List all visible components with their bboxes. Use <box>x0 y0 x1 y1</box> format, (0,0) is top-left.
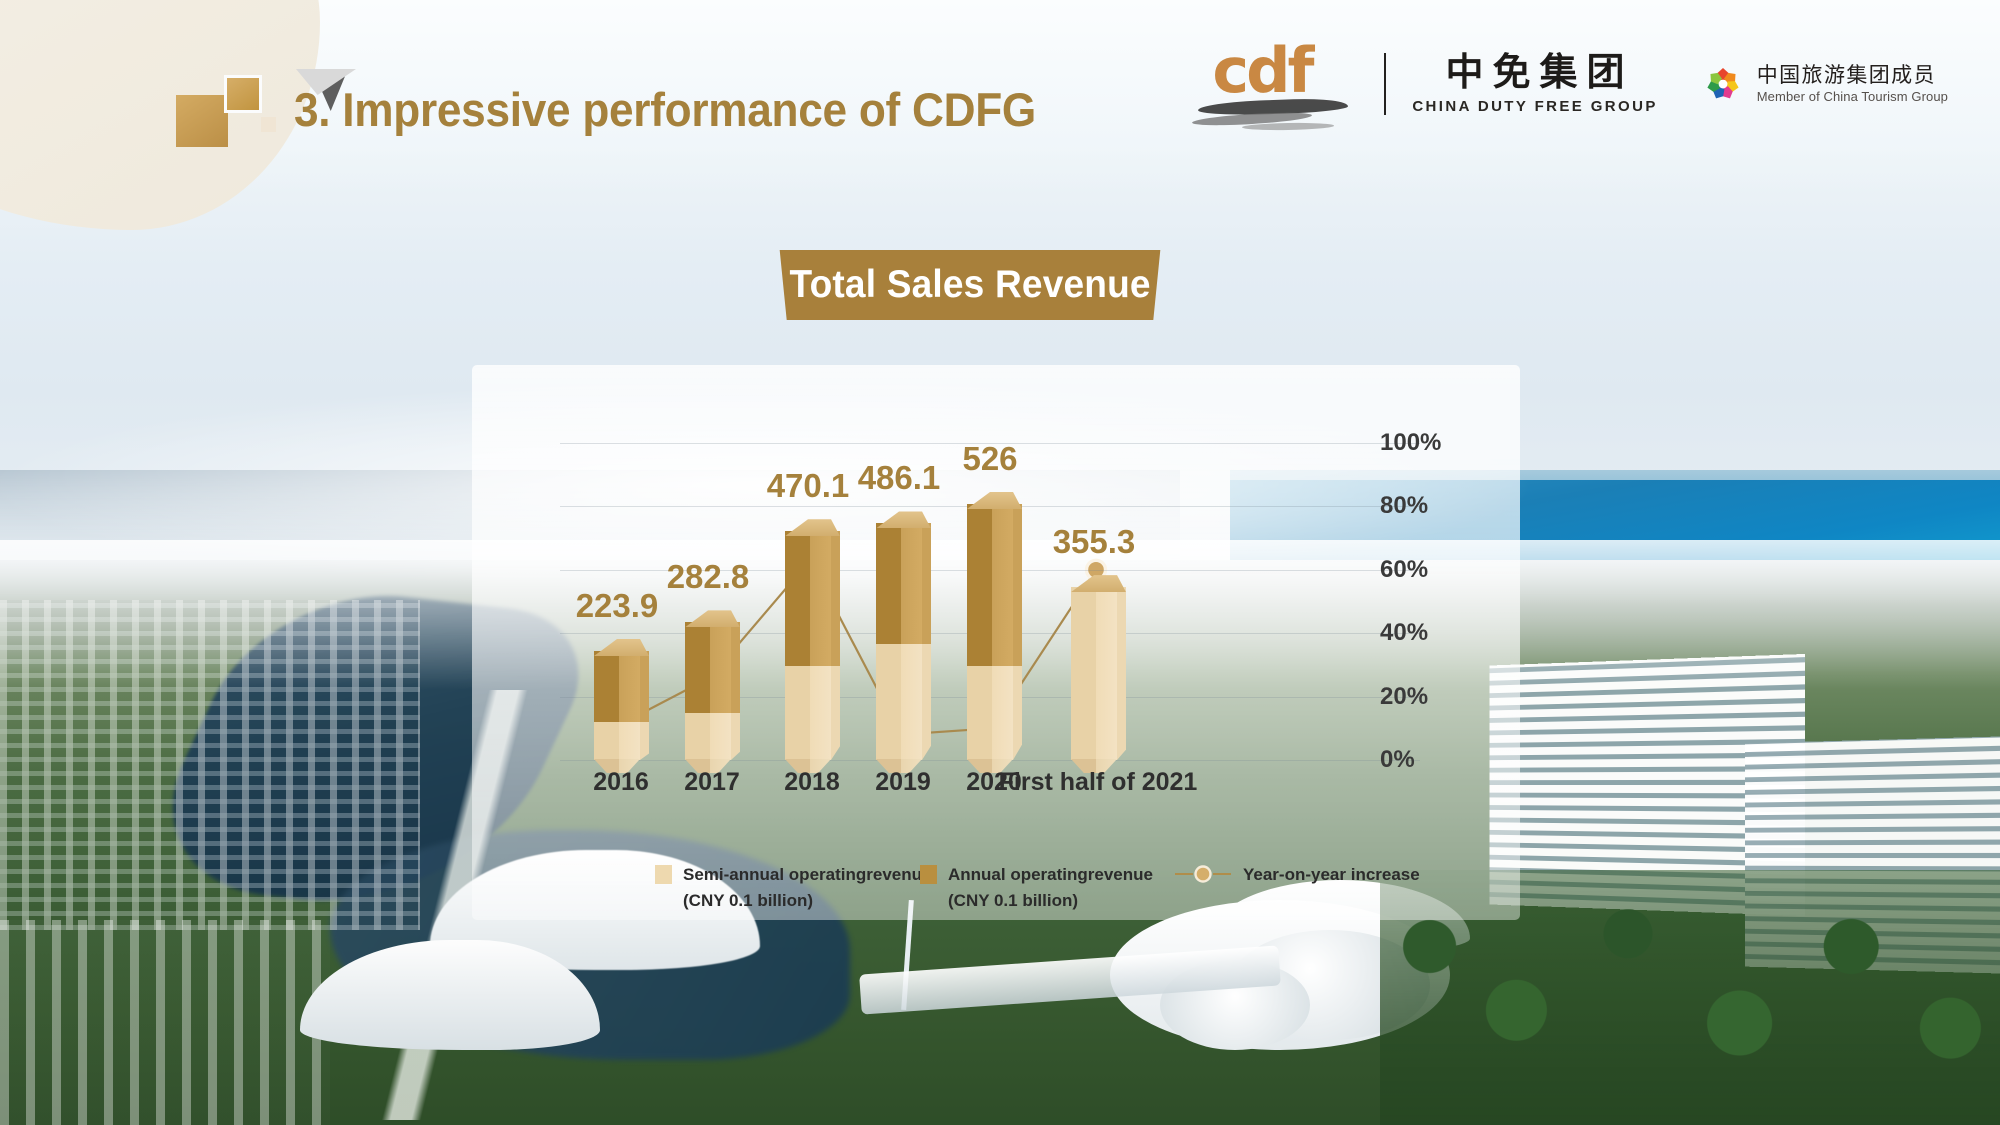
bar-top-cap <box>676 610 740 627</box>
ribbon-body: Total Sales Revenue <box>775 250 1165 320</box>
bar-side-face <box>922 523 931 760</box>
bar-side-face <box>640 651 649 760</box>
bar-segment-annual <box>785 531 831 666</box>
slide-root: 3. Impressive performance of CDFG cdf 中免… <box>0 0 2000 1125</box>
chart-bar[interactable]: 282.8 <box>685 622 731 760</box>
chart-plot-area: 223.92016282.82017470.12018486.120195262… <box>560 443 1420 760</box>
bar-segment-annual <box>967 504 1013 666</box>
bar-top-cap <box>585 639 649 656</box>
logo-divider <box>1384 53 1386 115</box>
cdf-logo: cdf <box>1190 34 1366 134</box>
x-axis-category-label: First half of 2021 <box>999 768 1198 797</box>
legend-item-annual[interactable]: Annual operatingrevenue (CNY 0.1 billion… <box>920 862 1175 913</box>
y-axis-tick-label: 80% <box>1380 492 1428 520</box>
china-tourism-group-logo: 中国旅游集团成员 Member of China Tourism Group <box>1700 61 1948 107</box>
title-square-small-icon <box>261 117 276 132</box>
legend-line-2: (CNY 0.1 billion) <box>683 888 931 914</box>
cdf-chinese-name: 中免集团 <box>1437 53 1634 93</box>
chart-bar[interactable]: 355.3 <box>1071 587 1117 760</box>
bar-value-label: 355.3 <box>1053 523 1136 561</box>
x-axis-category-label: 2018 <box>784 768 840 797</box>
bar-segment-semi-annual <box>967 666 1013 760</box>
y-axis-tick-label: 40% <box>1380 619 1428 647</box>
x-axis-category-label: 2017 <box>684 768 740 797</box>
legend-line-1: Annual operatingrevenue <box>948 862 1153 888</box>
legend-label-semi-annual: Semi-annual operatingrevenue (CNY 0.1 bi… <box>683 862 931 913</box>
bar-value-label: 486.1 <box>858 459 941 497</box>
cdf-brush-stroke-3 <box>1242 122 1334 131</box>
bar-side-face <box>731 622 740 760</box>
chart-title-ribbon: Total Sales Revenue <box>775 250 1165 320</box>
chart-bar[interactable]: 223.9 <box>594 651 640 760</box>
y-axis-tick-label: 20% <box>1380 683 1428 711</box>
chart-bar[interactable]: 526 <box>967 504 1013 760</box>
ctg-english-text: Member of China Tourism Group <box>1757 89 1948 104</box>
chart-legend: Semi-annual operatingrevenue (CNY 0.1 bi… <box>655 862 1420 913</box>
legend-label-yoy: Year-on-year increase <box>1243 862 1420 888</box>
bar-segment-annual <box>685 622 731 713</box>
bar-top-cap <box>1062 575 1126 592</box>
bar-value-label: 223.9 <box>576 587 659 625</box>
bar-value-label: 282.8 <box>667 558 750 596</box>
legend-label-annual: Annual operatingrevenue (CNY 0.1 billion… <box>948 862 1153 913</box>
x-axis-category-label: 2016 <box>593 768 649 797</box>
title-square-medium-icon <box>224 75 262 113</box>
ctg-chinese-text: 中国旅游集团成员 <box>1757 64 1948 87</box>
cdf-wordmark: cdf <box>1212 40 1311 102</box>
bar-side-face <box>1013 504 1022 760</box>
bar-segment-annual <box>876 523 922 644</box>
bar-top-cap <box>776 519 840 536</box>
bar-side-face <box>831 531 840 760</box>
y-axis-tick-label: 100% <box>1380 429 1441 457</box>
chart-bar[interactable]: 486.1 <box>876 523 922 760</box>
logo-group: cdf 中免集团 CHINA DUTY FREE GROUP <box>1190 34 1948 134</box>
y-axis-tick-label: 60% <box>1380 556 1428 584</box>
page-title: 3. Impressive performance of CDFG <box>294 82 1036 137</box>
legend-line-2: (CNY 0.1 billion) <box>948 888 1153 914</box>
bar-segment-annual <box>594 651 640 722</box>
legend-swatch-light-icon <box>655 865 672 884</box>
legend-item-semi-annual[interactable]: Semi-annual operatingrevenue (CNY 0.1 bi… <box>655 862 920 913</box>
bar-top-cap <box>958 492 1022 509</box>
bar-value-label: 526 <box>962 440 1017 478</box>
legend-line-marker-icon <box>1175 864 1231 884</box>
bar-segment-semi-annual <box>1071 587 1117 760</box>
cdf-chinese-logo: 中免集团 CHINA DUTY FREE GROUP <box>1412 53 1657 115</box>
bar-value-label: 470.1 <box>767 467 850 505</box>
bar-segment-semi-annual <box>876 644 922 760</box>
bar-segment-semi-annual <box>685 713 731 760</box>
chart-bar[interactable]: 470.1 <box>785 531 831 760</box>
bar-side-face <box>1117 587 1126 760</box>
legend-line-1: Year-on-year increase <box>1243 862 1420 888</box>
legend-line-1: Semi-annual operatingrevenue <box>683 862 931 888</box>
ctg-text-block: 中国旅游集团成员 Member of China Tourism Group <box>1757 64 1948 104</box>
ctg-flower-icon <box>1700 61 1746 107</box>
legend-swatch-dark-icon <box>920 865 937 884</box>
bar-top-cap <box>867 511 931 528</box>
cdf-english-name: CHINA DUTY FREE GROUP <box>1412 98 1657 115</box>
y-axis-tick-label: 0% <box>1380 746 1415 774</box>
legend-item-yoy[interactable]: Year-on-year increase <box>1175 862 1420 888</box>
chart-title: Total Sales Revenue <box>789 263 1150 307</box>
x-axis-category-label: 2019 <box>875 768 931 797</box>
bar-segment-semi-annual <box>785 666 831 760</box>
bar-segment-semi-annual <box>594 722 640 760</box>
